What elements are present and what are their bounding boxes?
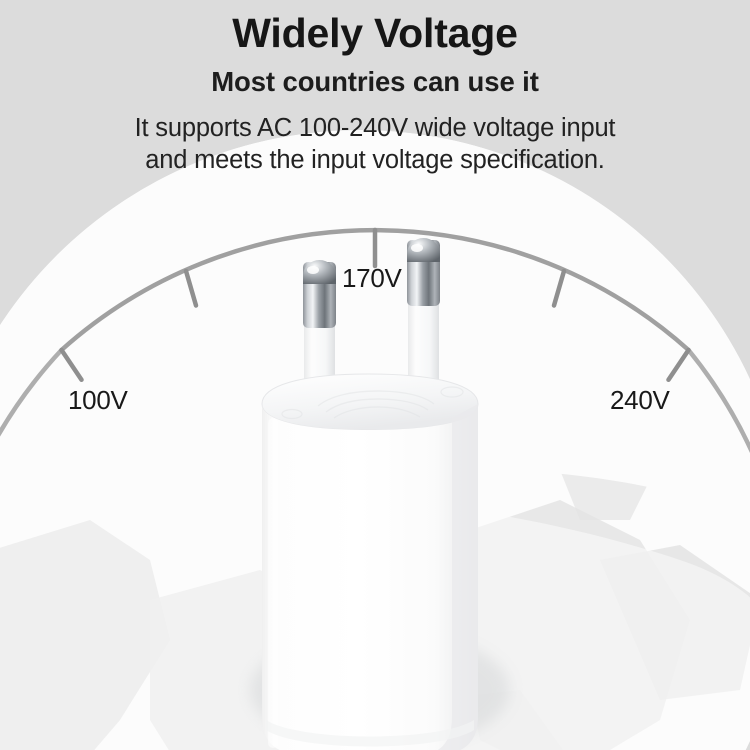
prong-left-highlight bbox=[307, 266, 319, 274]
usb-power-adapter bbox=[0, 0, 750, 750]
charger-top-face bbox=[262, 374, 478, 430]
prong-right-highlight bbox=[411, 244, 423, 252]
charger-left-highlight bbox=[268, 418, 278, 748]
charger-body bbox=[262, 404, 478, 750]
product-feature-banner: Widely Voltage Most countries can use it… bbox=[0, 0, 750, 750]
